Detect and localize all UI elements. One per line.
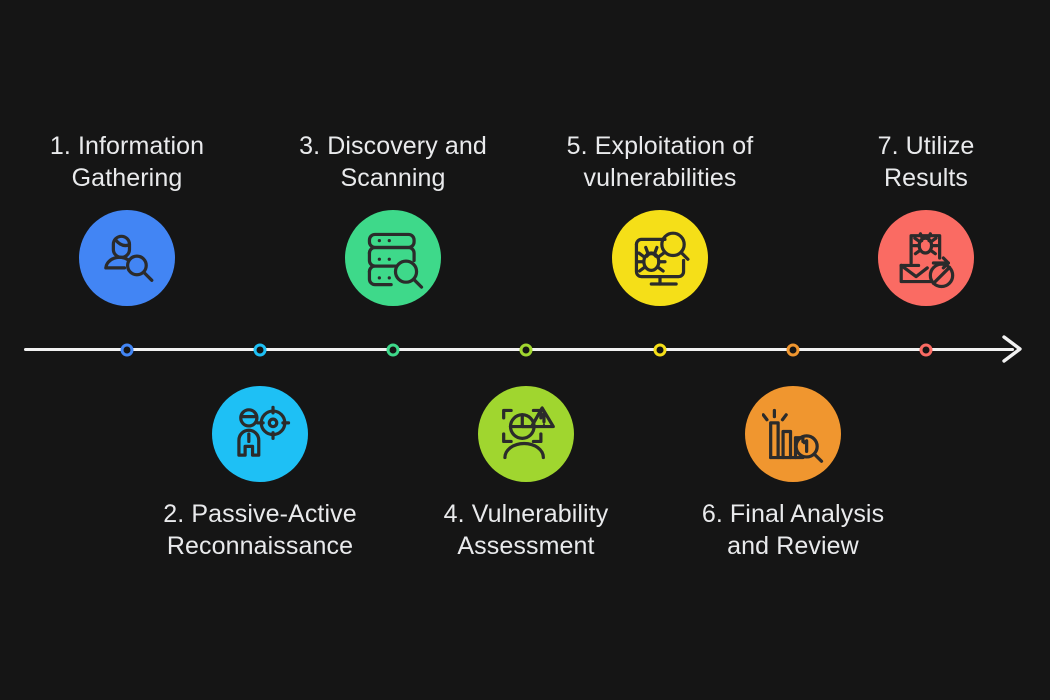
user-search-icon bbox=[96, 227, 158, 289]
monitor-bug-search-icon bbox=[629, 227, 691, 289]
timeline-dot-4[interactable] bbox=[520, 344, 533, 357]
step-label-4: 4. Vulnerability Assessment bbox=[444, 498, 609, 562]
timeline-dot-5[interactable] bbox=[654, 344, 667, 357]
timeline-step-7[interactable]: 7. Utilize Results bbox=[811, 130, 1041, 306]
step-label-3: 3. Discovery and Scanning bbox=[299, 130, 487, 194]
timeline-arrowhead-icon bbox=[1000, 333, 1026, 365]
timeline-step-5[interactable]: 5. Exploitation of vulnerabilities bbox=[545, 130, 775, 306]
timeline-dot-1[interactable] bbox=[121, 344, 134, 357]
timeline-step-6[interactable]: 6. Final Analysis and Review bbox=[678, 386, 908, 562]
mail-bug-blocked-icon bbox=[895, 227, 957, 289]
timeline-dot-7[interactable] bbox=[920, 344, 933, 357]
step-label-5: 5. Exploitation of vulnerabilities bbox=[567, 130, 754, 194]
step-badge-7[interactable] bbox=[878, 210, 974, 306]
step-label-7: 7. Utilize Results bbox=[878, 130, 975, 194]
person-target-icon bbox=[229, 403, 291, 465]
timeline-dot-6[interactable] bbox=[787, 344, 800, 357]
step-badge-6[interactable] bbox=[745, 386, 841, 482]
step-badge-1[interactable] bbox=[79, 210, 175, 306]
timeline-step-1[interactable]: 1. Information Gathering bbox=[12, 130, 242, 306]
timeline-dot-3[interactable] bbox=[387, 344, 400, 357]
timeline-step-4[interactable]: 4. Vulnerability Assessment bbox=[411, 386, 641, 562]
step-badge-4[interactable] bbox=[478, 386, 574, 482]
timeline-step-2[interactable]: 2. Passive-Active Reconnaissance bbox=[145, 386, 375, 562]
step-label-6: 6. Final Analysis and Review bbox=[702, 498, 884, 562]
scan-warning-icon bbox=[495, 403, 557, 465]
timeline-step-3[interactable]: 3. Discovery and Scanning bbox=[278, 130, 508, 306]
step-label-1: 1. Information Gathering bbox=[50, 130, 204, 194]
step-badge-5[interactable] bbox=[612, 210, 708, 306]
bar-chart-search-icon bbox=[762, 403, 824, 465]
step-label-2: 2. Passive-Active Reconnaissance bbox=[163, 498, 356, 562]
timeline-diagram: 1. Information Gathering2. Passive-Activ… bbox=[0, 0, 1050, 700]
timeline-dot-2[interactable] bbox=[254, 344, 267, 357]
step-badge-3[interactable] bbox=[345, 210, 441, 306]
server-search-icon bbox=[362, 227, 424, 289]
step-badge-2[interactable] bbox=[212, 386, 308, 482]
